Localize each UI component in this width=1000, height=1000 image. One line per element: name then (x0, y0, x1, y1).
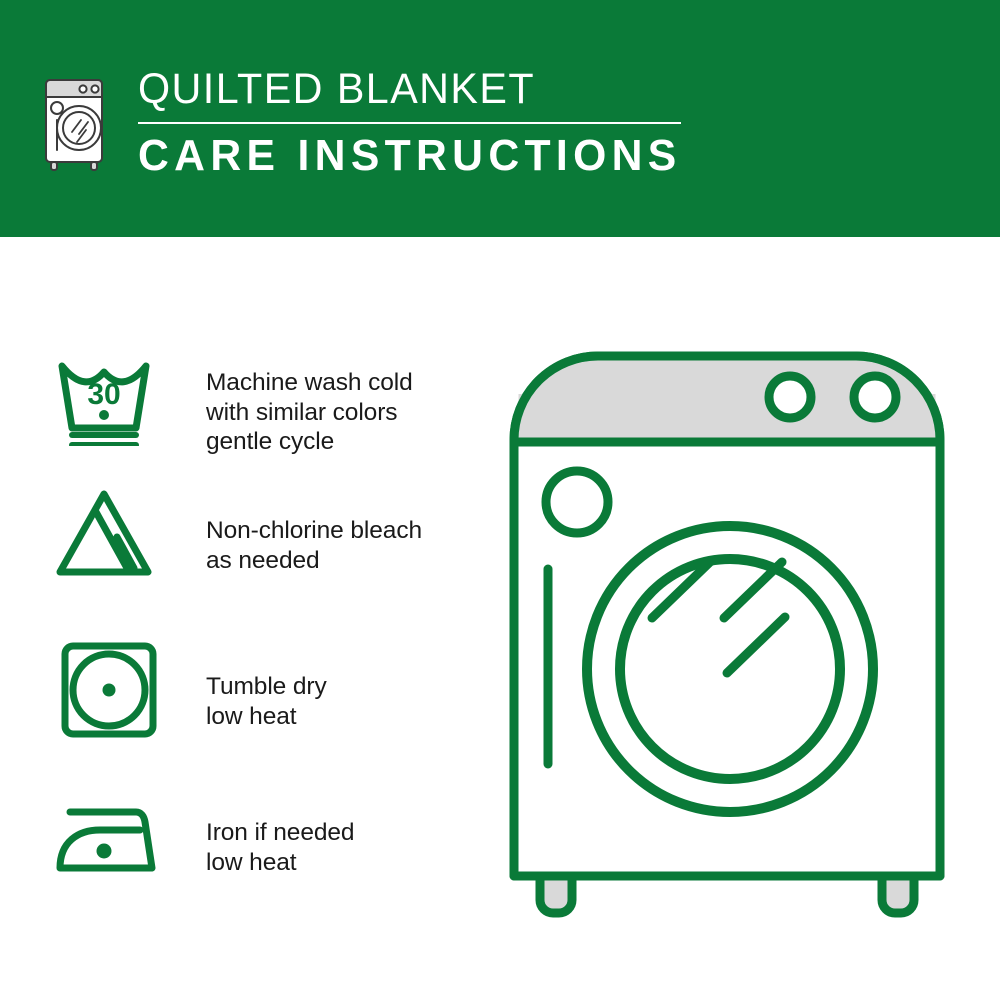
care-instruction-item: Non-chlorine bleach as needed (0, 482, 470, 582)
care-instruction-line: Tumble dry (206, 672, 470, 702)
care-instruction-text: Machine wash cold with similar colors ge… (206, 342, 470, 457)
care-instruction-line: Iron if needed (206, 818, 470, 848)
front-load-washing-machine-illustration (492, 334, 962, 922)
non-chlorine-bleach-triangle-icon (48, 482, 160, 582)
care-instruction-item: Tumble dry low heat (0, 640, 470, 740)
wash-temperature-value: 30 (87, 378, 120, 411)
care-instruction-line: low heat (206, 702, 470, 732)
care-instruction-text: Non-chlorine bleach as needed (206, 482, 470, 575)
title-divider (138, 122, 681, 124)
care-instructions-page: QUILTED BLANKET CARE INSTRUCTIONS 30 (0, 0, 1000, 1000)
header-title-block: QUILTED BLANKET CARE INSTRUCTIONS (138, 66, 698, 181)
care-instruction-text: Tumble dry low heat (206, 640, 470, 731)
iron-low-heat-icon (48, 792, 160, 888)
care-instruction-line: gentle cycle (206, 427, 470, 457)
page-title-secondary: CARE INSTRUCTIONS (138, 131, 682, 181)
header-band: QUILTED BLANKET CARE INSTRUCTIONS (0, 0, 1000, 237)
care-instruction-line: Machine wash cold (206, 368, 470, 398)
tumble-dry-low-heat-icon (48, 640, 160, 740)
care-instruction-line: as needed (206, 546, 470, 576)
washing-machine-icon (40, 70, 116, 174)
page-title-primary: QUILTED BLANKET (138, 66, 676, 113)
care-instruction-item: 30 Machine wash cold with similar colors… (0, 342, 470, 457)
care-instruction-line: with similar colors (206, 398, 470, 428)
wash-tub-30-gentle-icon: 30 (48, 342, 160, 446)
care-instruction-text: Iron if needed low heat (206, 792, 470, 877)
care-instruction-line: low heat (206, 848, 470, 878)
care-instruction-line: Non-chlorine bleach (206, 516, 470, 546)
care-instruction-item: Iron if needed low heat (0, 792, 470, 888)
header-content: QUILTED BLANKET CARE INSTRUCTIONS (40, 66, 698, 181)
